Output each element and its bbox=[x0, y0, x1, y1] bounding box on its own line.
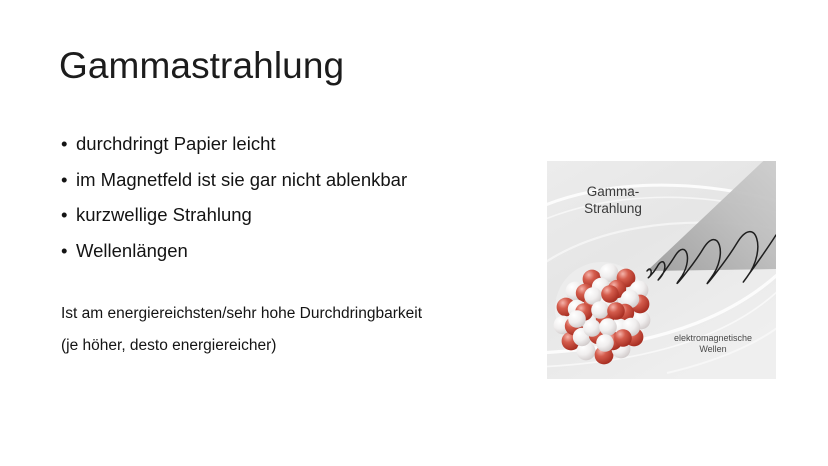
image-label-gamma: Gamma- Strahlung bbox=[561, 183, 665, 217]
gamma-radiation-image: Gamma- Strahlung elektromagnetische Well… bbox=[547, 161, 776, 379]
list-item: • durchdringt Papier leicht bbox=[61, 126, 531, 162]
image-label-gamma-line2: Strahlung bbox=[561, 200, 665, 217]
list-item-label: Wellenlängen bbox=[76, 240, 188, 261]
list-item-label: kurzwellige Strahlung bbox=[76, 204, 252, 225]
image-label-em-waves: elektromagnetische Wellen bbox=[657, 333, 769, 355]
list-item-label: im Magnetfeld ist sie gar nicht ablenkba… bbox=[76, 169, 407, 190]
image-label-em-line2: Wellen bbox=[657, 344, 769, 355]
image-label-gamma-line1: Gamma- bbox=[561, 183, 665, 200]
paragraph-line: Ist am energiereichsten/sehr hohe Durchd… bbox=[61, 298, 541, 330]
paragraph-line: (je höher, desto energiereicher) bbox=[61, 330, 541, 362]
list-item-label: durchdringt Papier leicht bbox=[76, 133, 276, 154]
image-label-em-line1: elektromagnetische bbox=[657, 333, 769, 344]
bullet-marker-icon: • bbox=[61, 126, 67, 162]
bullet-marker-icon: • bbox=[61, 197, 67, 233]
page-title: Gammastrahlung bbox=[59, 44, 344, 88]
bullet-marker-icon: • bbox=[61, 233, 67, 269]
bullet-marker-icon: • bbox=[61, 162, 67, 198]
bullet-list: • durchdringt Papier leicht • im Magnetf… bbox=[61, 126, 531, 268]
list-item: • im Magnetfeld ist sie gar nicht ablenk… bbox=[61, 162, 531, 198]
body-paragraph: Ist am energiereichsten/sehr hohe Durchd… bbox=[61, 298, 541, 362]
list-item: • kurzwellige Strahlung bbox=[61, 197, 531, 233]
slide-canvas: Gammastrahlung • durchdringt Papier leic… bbox=[0, 0, 828, 466]
list-item: • Wellenlängen bbox=[61, 233, 531, 269]
